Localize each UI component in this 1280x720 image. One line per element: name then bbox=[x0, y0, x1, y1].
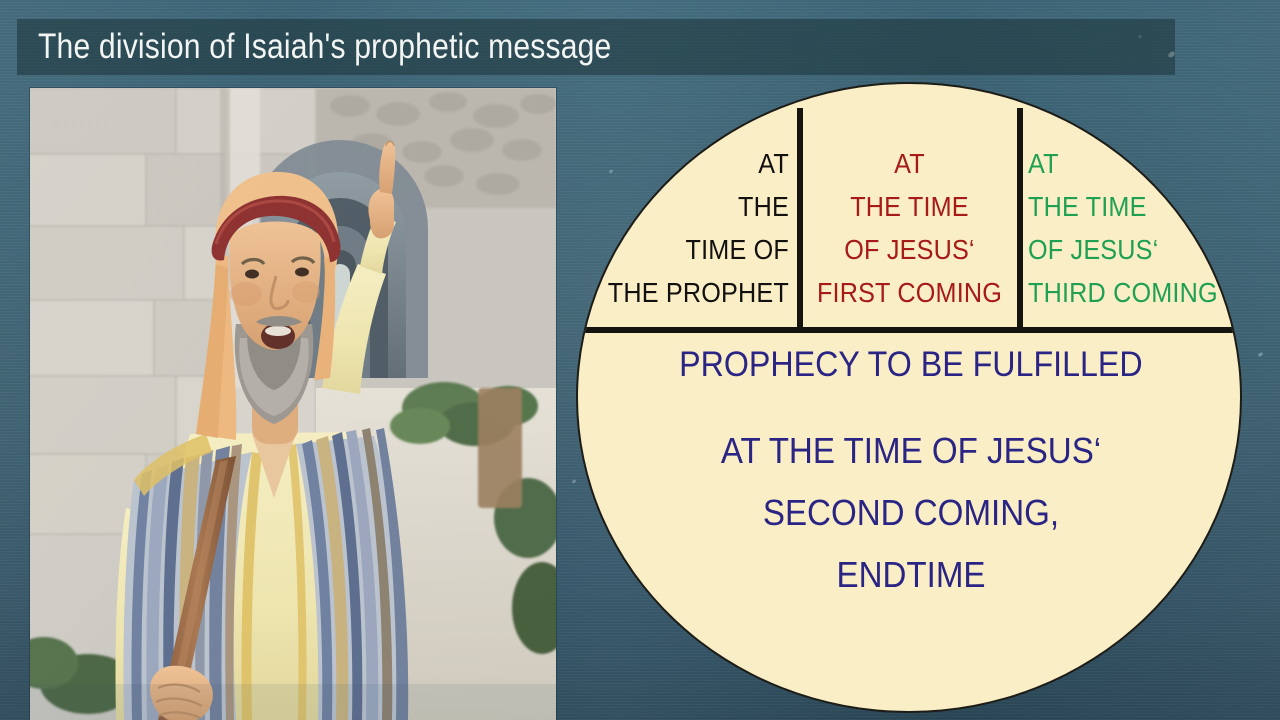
prophecy-circle-diagram: AT THE TIME OF THE PROPHET AT THE TIME O… bbox=[576, 82, 1242, 713]
column-first-line-3: OF JESUS‘ bbox=[810, 228, 1009, 271]
column-third-line-3: OF JESUS‘ bbox=[1028, 228, 1222, 271]
prophecy-lower-section: PROPHECY TO BE FULFILLED AT THE TIME OF … bbox=[578, 342, 1242, 606]
page-title: The division of Isaiah's prophetic messa… bbox=[38, 22, 611, 72]
column-third-line-4: THIRD COMING bbox=[1028, 271, 1222, 314]
horizontal-separator-rule bbox=[584, 327, 1240, 333]
column-prophet-line-4: THE PROPHET bbox=[599, 271, 789, 314]
prophecy-heading: PROPHECY TO BE FULFILLED bbox=[578, 342, 1242, 388]
prophecy-body-line-3: ENDTIME bbox=[605, 544, 1218, 606]
prophecy-body-line-1: AT THE TIME OF JESUS‘ bbox=[605, 420, 1218, 482]
column-prophet-line-1: AT bbox=[599, 142, 789, 185]
column-third-line-1: AT bbox=[1028, 142, 1222, 185]
column-third-line-2: THE TIME bbox=[1028, 185, 1222, 228]
diagram-columns: AT THE TIME OF THE PROPHET AT THE TIME O… bbox=[578, 84, 1242, 330]
column-first-line-4: FIRST COMING bbox=[810, 271, 1009, 314]
column-prophet-line-3: TIME OF bbox=[599, 228, 789, 271]
column-divider-right bbox=[1017, 108, 1023, 330]
column-divider-left bbox=[797, 108, 803, 330]
column-first-coming: AT THE TIME OF JESUS‘ FIRST COMING bbox=[799, 84, 1020, 330]
column-first-line-1: AT bbox=[810, 142, 1009, 185]
column-third-coming: AT THE TIME OF JESUS‘ THIRD COMING bbox=[1020, 84, 1242, 330]
column-prophet-line-2: THE bbox=[599, 185, 789, 228]
column-time-of-the-prophet: AT THE TIME OF THE PROPHET bbox=[578, 84, 799, 330]
prophecy-heading-text: PROPHECY TO BE FULFILLED bbox=[679, 342, 1142, 388]
column-first-line-2: THE TIME bbox=[810, 185, 1009, 228]
slide-canvas: The division of Isaiah's prophetic messa… bbox=[0, 0, 1280, 720]
prophet-illustration bbox=[30, 88, 556, 720]
prophecy-body: AT THE TIME OF JESUS‘ SECOND COMING, END… bbox=[578, 420, 1242, 606]
prophecy-body-line-2: SECOND COMING, bbox=[605, 482, 1218, 544]
